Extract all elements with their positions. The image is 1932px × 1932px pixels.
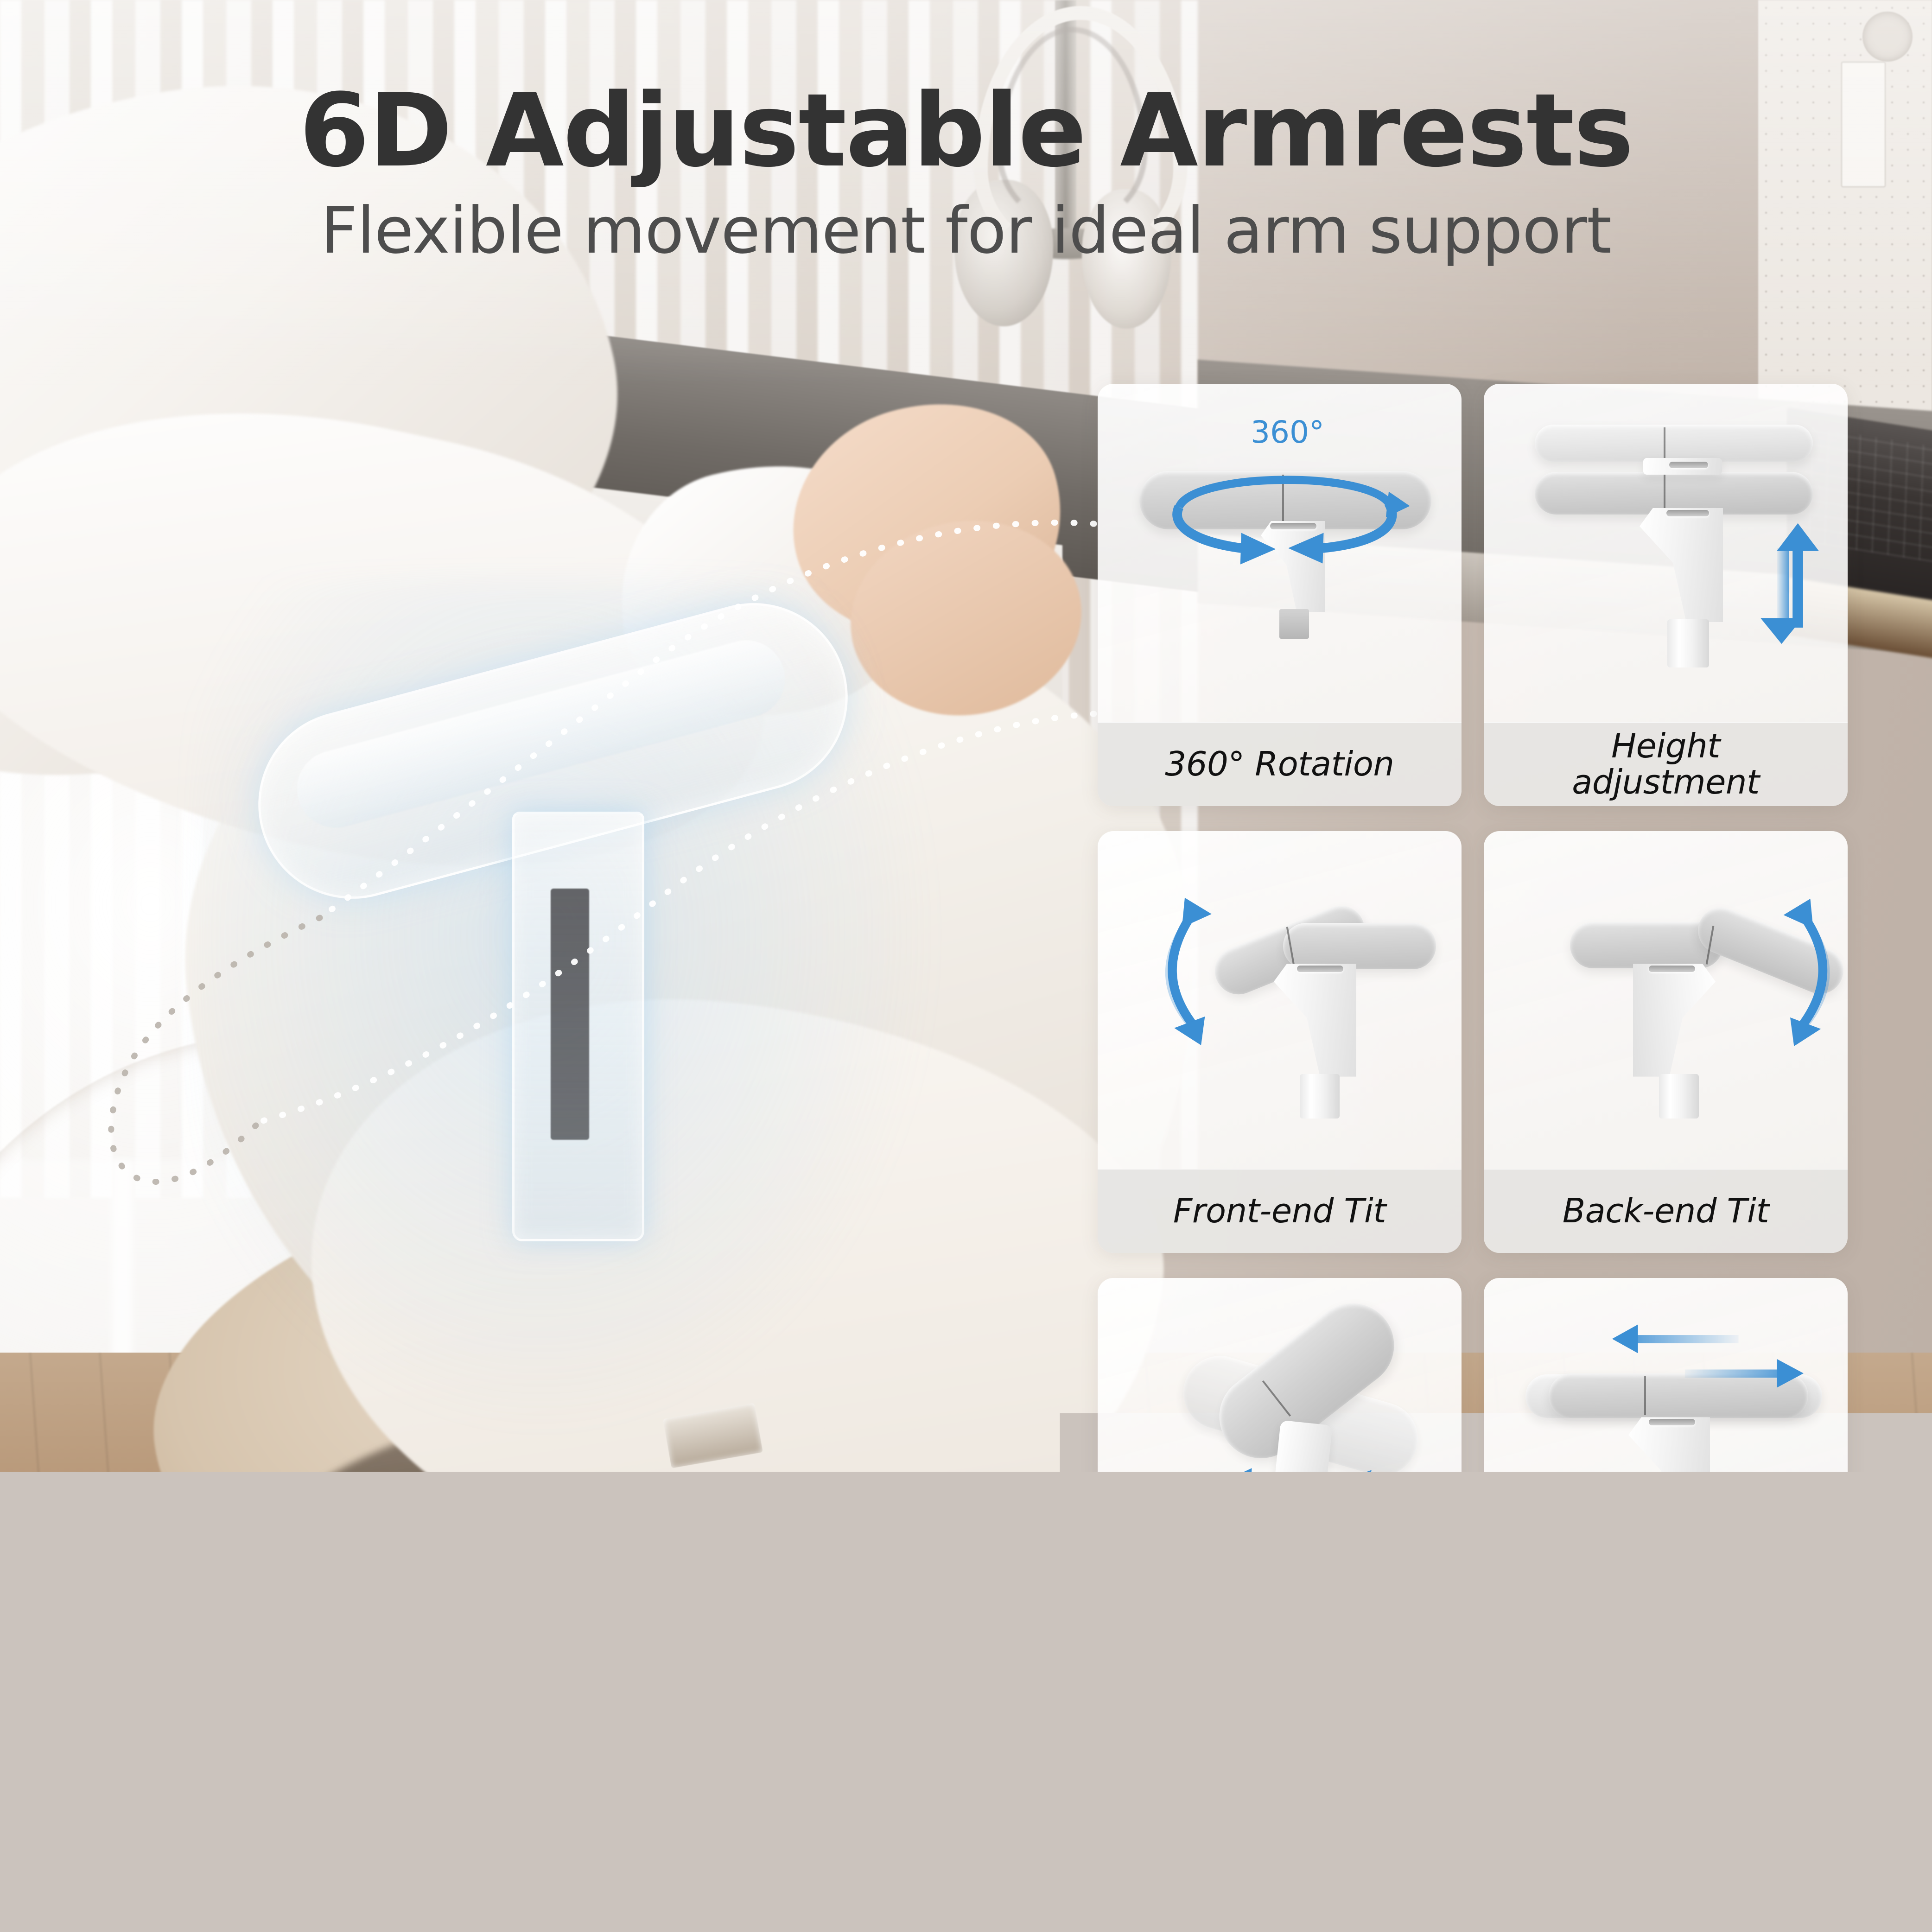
feature-card-left-right[interactable]: Left & Right: [1098, 1278, 1462, 1700]
armrest-back-tilt-icon: [1484, 831, 1848, 1169]
chair-base-ring-left: [782, 1710, 850, 1766]
feature-card-height[interactable]: Height adjustment: [1484, 384, 1848, 806]
feature-card-back-tilt[interactable]: Back-end Tit: [1484, 831, 1848, 1253]
card-caption-strip: 360° Rotation: [1098, 722, 1462, 806]
infographic-root: 6D Adjustable Armrests Flexible movement…: [0, 0, 1932, 1932]
card-label: Front & Back: [1559, 1640, 1773, 1677]
front-tilt-arrow-icon: [1098, 831, 1462, 1169]
card-caption-strip: Front & Back: [1484, 1616, 1848, 1700]
card-label: Left & Right: [1182, 1640, 1378, 1677]
card-label: Back-end Tit: [1563, 1193, 1769, 1229]
armrest-360-rotation-icon: 360°: [1098, 384, 1462, 722]
feature-card-grid: 360° 360° Rotation: [1098, 384, 1848, 1700]
chair-base-ring-right: [1024, 1690, 1091, 1746]
card-caption-strip: Back-end Tit: [1484, 1169, 1848, 1253]
armrest-front-tilt-icon: [1098, 831, 1462, 1169]
armrest-left-right-icon: [1098, 1278, 1462, 1616]
card-label: 360° Rotation: [1165, 746, 1394, 782]
armrest-post-core: [551, 889, 589, 1140]
feature-card-rotation[interactable]: 360° 360° Rotation: [1098, 384, 1462, 806]
header: 6D Adjustable Armrests Flexible movement…: [0, 79, 1932, 267]
armrest-front-back-icon: [1484, 1278, 1848, 1616]
card-label: Height adjustment: [1572, 728, 1760, 801]
card-label: Front-end Tit: [1173, 1193, 1386, 1229]
height-arrow-icon: [1484, 384, 1848, 722]
slide-arrow-icon: [1484, 1278, 1848, 1616]
page-subtitle: Flexible movement for ideal arm support: [0, 195, 1932, 267]
armrest-height-adjustment-icon: [1484, 384, 1848, 722]
feature-card-front-tilt[interactable]: Front-end Tit: [1098, 831, 1462, 1253]
rotation-arrow-icon: [1098, 384, 1462, 722]
card-caption-strip: Height adjustment: [1484, 722, 1848, 806]
back-tilt-arrow-icon: [1484, 831, 1848, 1169]
page-title: 6D Adjustable Armrests: [0, 79, 1932, 184]
card-caption-strip: Front-end Tit: [1098, 1169, 1462, 1253]
feature-card-front-back[interactable]: Front & Back: [1484, 1278, 1848, 1700]
card-caption-strip: Left & Right: [1098, 1616, 1462, 1700]
swivel-arrow-icon: [1098, 1278, 1462, 1616]
